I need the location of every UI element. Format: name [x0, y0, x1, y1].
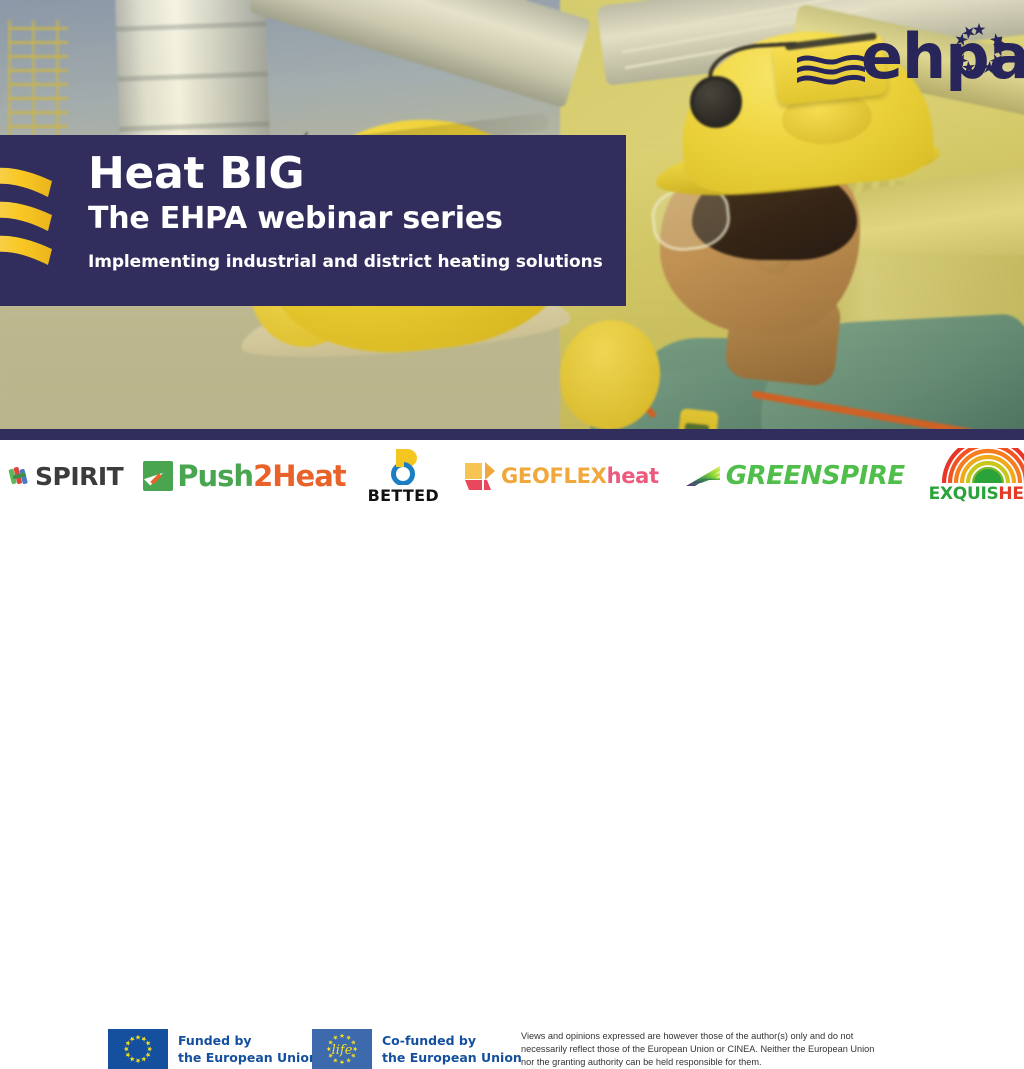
eu-stars-icon	[949, 18, 1013, 84]
disclaimer-line-2: necessarily reflect those of the Europea…	[521, 1043, 939, 1056]
hero-banner: ehpa	[0, 0, 1024, 440]
cofunded-label-line1: Co-funded by	[382, 1032, 522, 1050]
partner-label-push: Push	[177, 459, 253, 493]
page-title: Heat BIG	[88, 151, 608, 197]
partner-logo-spirit[interactable]: SPIRIT	[8, 462, 123, 491]
spirit-mark-icon	[8, 464, 32, 488]
title-text-group: Heat BIG The EHPA webinar series Impleme…	[88, 151, 608, 273]
partner-logo-betted[interactable]: BETTED	[368, 448, 439, 505]
partner-label-heat2: heat	[607, 464, 659, 488]
partner-label-exquis: EXQUIS	[929, 484, 999, 504]
page-subtitle: The EHPA webinar series	[88, 201, 608, 237]
greenspire-wedge-icon	[685, 465, 721, 487]
page-tagline: Implementing industrial and district hea…	[88, 251, 608, 273]
geoflexheat-mark-icon	[463, 460, 497, 492]
partner-logo-exquisheat[interactable]: EXQUISHEAT	[929, 448, 1024, 504]
betted-b-icon	[383, 448, 423, 485]
funded-label-line1: Funded by	[178, 1032, 318, 1050]
eu-disclaimer: Views and opinions expressed are however…	[521, 1030, 939, 1069]
partner-label-greenspire: GREENSPIRE	[726, 461, 905, 491]
hero-bottom-strip	[0, 429, 1024, 440]
partner-label-betted: BETTED	[368, 486, 439, 505]
partner-label-spirit: SPIRIT	[35, 462, 123, 491]
push2heat-arrow-icon	[143, 461, 173, 491]
partner-logo-greenspire[interactable]: GREENSPIRE	[685, 461, 905, 491]
disclaimer-line-3: nor the granting authority can be held r…	[521, 1056, 939, 1069]
life-wordmark: life	[332, 1043, 353, 1058]
disclaimer-line-1: Views and opinions expressed are however…	[521, 1030, 939, 1043]
partner-label-geoflex: GEOFLEX	[501, 464, 607, 488]
cofunded-label-line2: the European Union	[382, 1049, 522, 1067]
funded-by-eu-badge: Funded by the European Union	[108, 1029, 318, 1069]
partner-label-heat3: HEAT	[998, 484, 1024, 504]
partner-label-2: 2	[253, 459, 272, 493]
ehpa-logo[interactable]: ehpa	[795, 18, 1010, 104]
eu-flag-icon	[108, 1029, 168, 1069]
partner-logo-geoflexheat[interactable]: GEOFLEXheat	[463, 460, 659, 492]
partner-label-heat: Heat	[272, 459, 345, 493]
exquisheat-arcs-icon	[940, 448, 1024, 484]
footer: Funded by the European Union	[0, 512, 1024, 576]
ehpa-waves-icon	[795, 48, 867, 88]
partner-logo-push2heat[interactable]: Push2Heat	[143, 459, 345, 493]
three-waves-icon	[0, 165, 54, 273]
title-panel: Heat BIG The EHPA webinar series Impleme…	[0, 135, 626, 306]
cofunded-by-eu-badge: life Co-funded by the European Union	[312, 1029, 522, 1069]
partner-logo-bar: SPIRIT Push2Heat BETTED GEOFLEXheat	[0, 440, 1024, 512]
funded-label-line2: the European Union	[178, 1049, 318, 1067]
eu-life-flag-icon: life	[312, 1029, 372, 1069]
